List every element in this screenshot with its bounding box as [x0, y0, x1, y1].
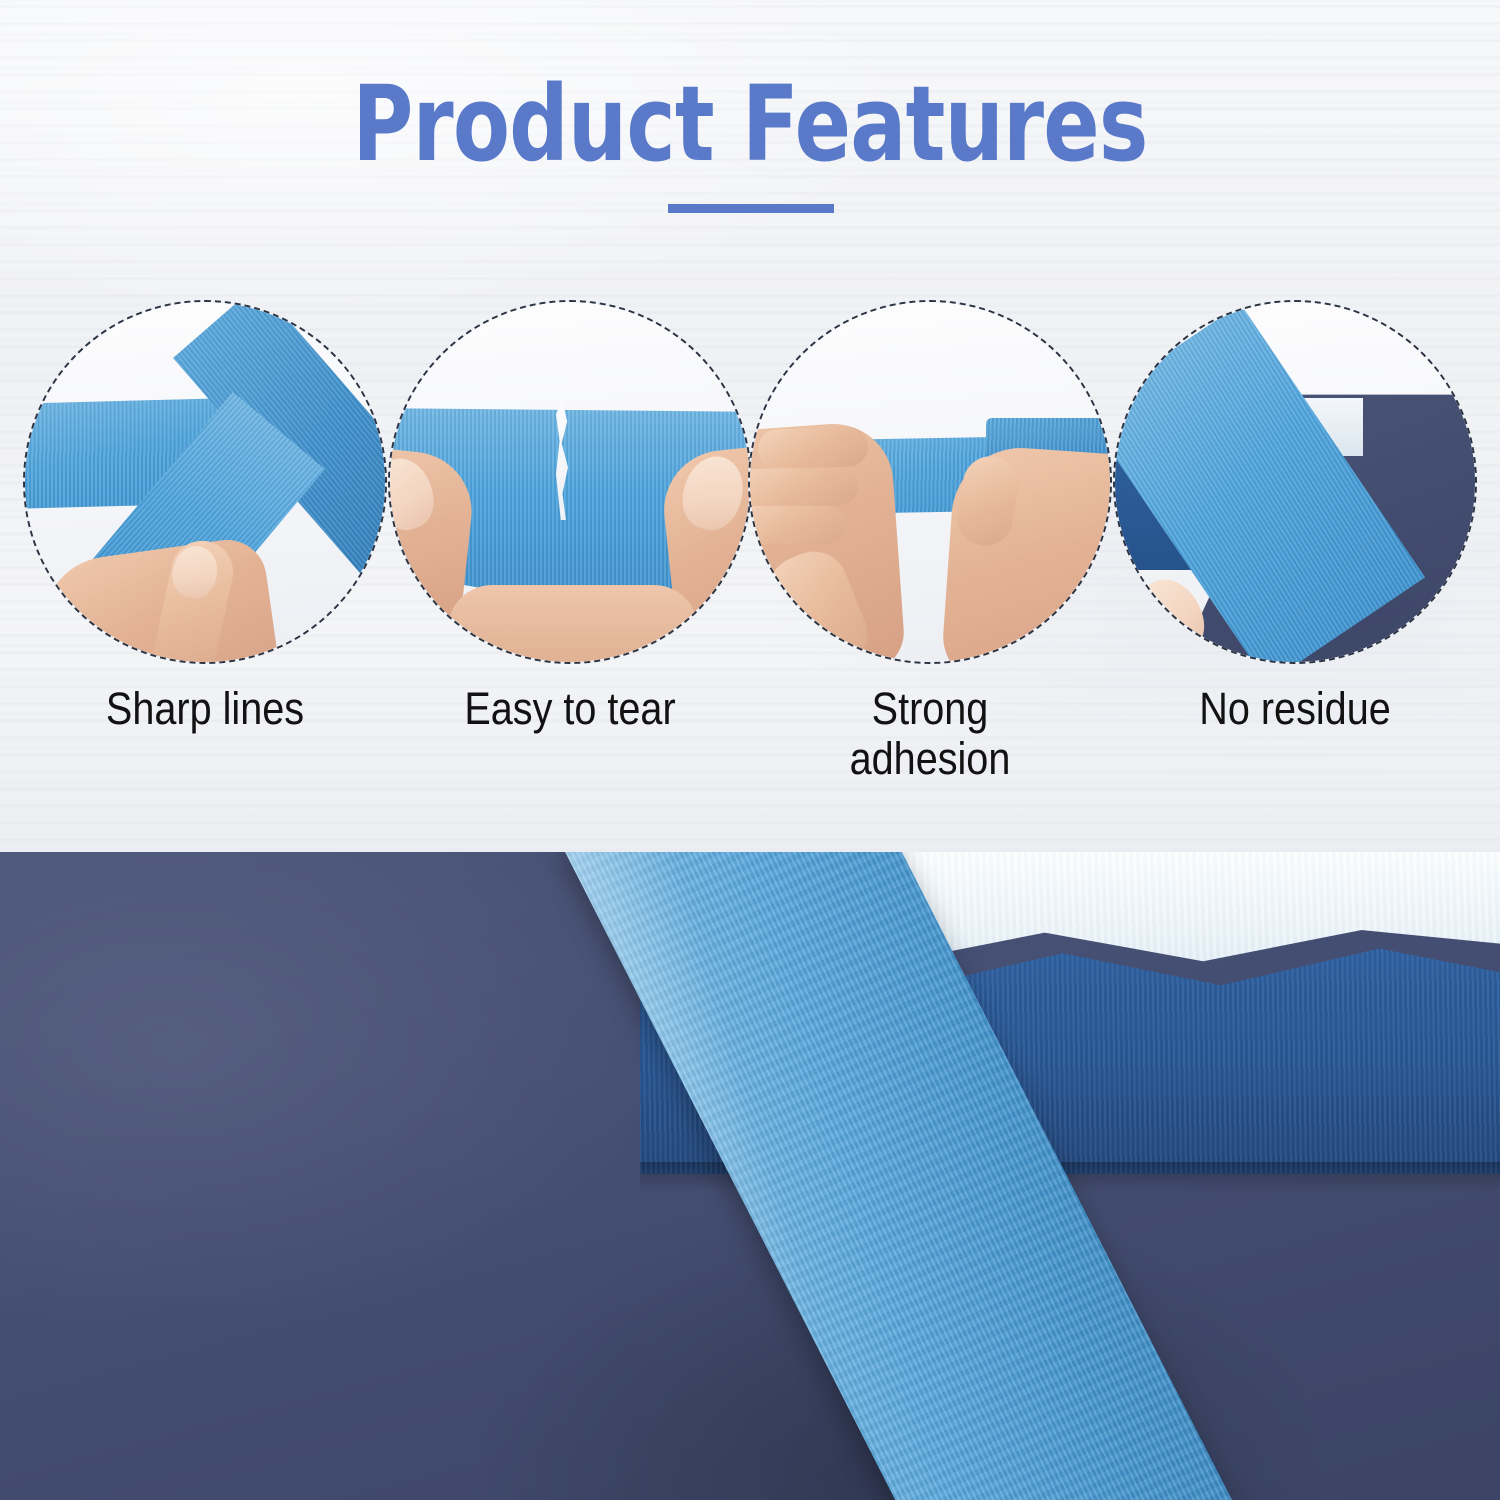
feature-photo-circle	[1113, 300, 1477, 664]
page-title-wrap: Product Features	[0, 72, 1500, 176]
hero-photo	[0, 852, 1500, 1500]
feature-list: Sharp lines Easy to tear	[0, 300, 1500, 820]
finger-2	[748, 467, 858, 507]
feature-item-sharp-lines: Sharp lines	[23, 300, 387, 664]
feature-item-no-residue: No residue	[1113, 300, 1477, 664]
no-residue-photo	[1113, 300, 1477, 664]
feature-photo-circle	[748, 300, 1112, 664]
feature-label: Easy to tear	[410, 684, 730, 734]
feature-label: No residue	[1135, 684, 1455, 734]
title-underline-rule	[668, 204, 834, 213]
easy-to-tear-photo	[388, 300, 752, 664]
finger-1	[757, 426, 868, 470]
feature-photo-circle	[23, 300, 387, 664]
product-features-infographic: Product Features Sharp lines	[0, 0, 1500, 1500]
feature-label: Strong adhesion	[770, 684, 1090, 785]
feature-item-strong-adhesion: Strong adhesion	[748, 300, 1112, 664]
page-title: Product Features	[352, 72, 1147, 176]
sharp-lines-photo	[23, 300, 387, 664]
strong-adhesion-photo	[748, 300, 1112, 664]
feature-photo-circle	[388, 300, 752, 664]
finger-3	[748, 506, 846, 544]
feature-label: Sharp lines	[45, 684, 365, 734]
lower-fingers	[448, 585, 698, 664]
feature-item-easy-to-tear: Easy to tear	[388, 300, 752, 664]
